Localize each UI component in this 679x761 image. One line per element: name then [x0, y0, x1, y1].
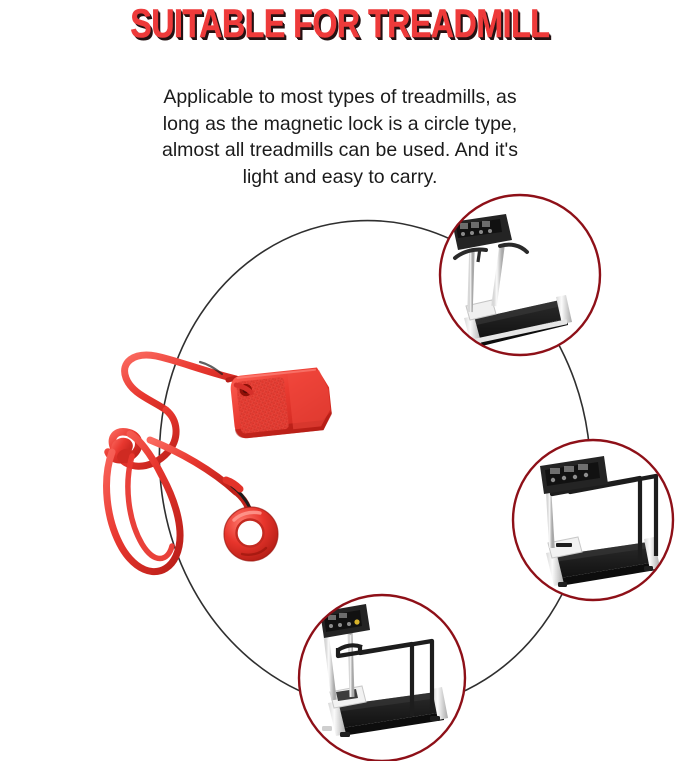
callout-treadmill-middle[interactable] — [513, 440, 679, 606]
infographic-page: SUITABLE FOR TREADMILL Applicable to mos… — [0, 0, 679, 761]
diagram-stage — [0, 0, 679, 761]
treadmill-safety-key — [107, 355, 334, 571]
magnetic-lock-ring — [224, 507, 278, 561]
callout-treadmill-bottom[interactable] — [299, 595, 469, 761]
callout-treadmill-top[interactable] — [440, 195, 600, 355]
safety-key-tag — [229, 366, 333, 439]
